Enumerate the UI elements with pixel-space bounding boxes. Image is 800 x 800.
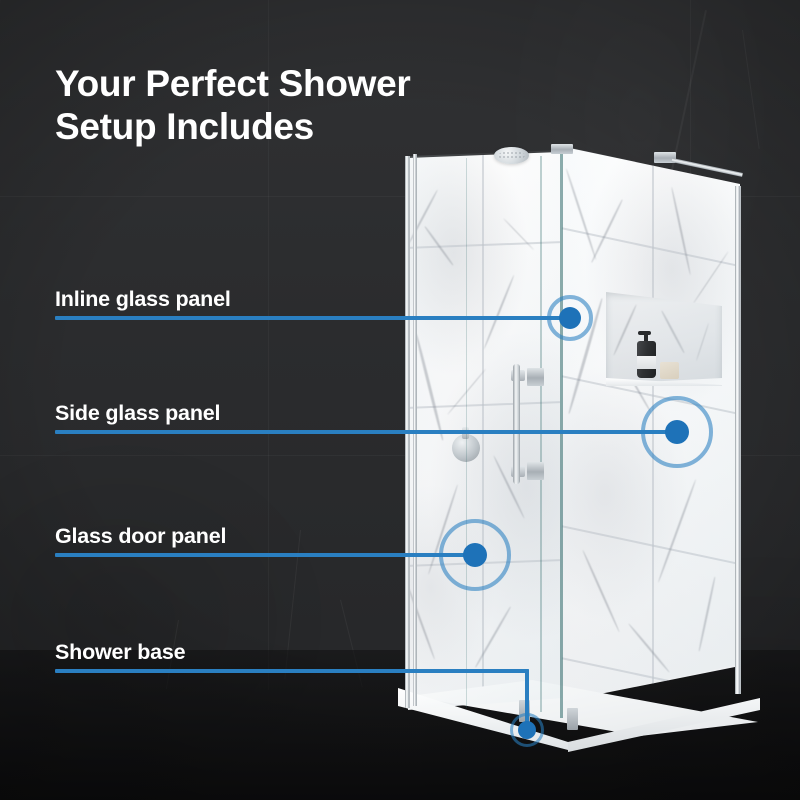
page-title: Your Perfect Shower Setup Includes	[55, 62, 525, 149]
marker-side-glass-panel[interactable]	[641, 396, 713, 468]
glass-door-edge	[540, 156, 542, 712]
marker-inline-glass-panel[interactable]	[547, 295, 593, 341]
chrome-post-right	[735, 186, 741, 694]
callout-label: Shower base	[55, 640, 185, 665]
door-hinge-top	[527, 368, 544, 386]
callout-label: Side glass panel	[55, 401, 220, 426]
marker-shower-base[interactable]	[510, 713, 544, 747]
soap-bar	[660, 362, 679, 379]
callout-label: Inline glass panel	[55, 287, 231, 312]
leader-line-glass-door-panel	[55, 553, 475, 557]
leader-line-side-glass-panel	[55, 430, 677, 434]
marker-dot	[518, 721, 536, 739]
glass-foot-bracket	[567, 708, 578, 730]
callout-label: Glass door panel	[55, 524, 226, 549]
door-hinge-bottom	[527, 462, 544, 480]
infographic-canvas: Your Perfect Shower Setup Includes Inlin…	[0, 0, 800, 800]
rain-showerhead-icon	[494, 147, 529, 164]
marker-dot	[463, 543, 487, 567]
marker-glass-door-panel[interactable]	[439, 519, 511, 591]
marker-dot	[559, 307, 581, 329]
door-handle[interactable]	[513, 364, 520, 484]
corner-top-connector	[551, 144, 573, 154]
leader-line-shower-base	[55, 669, 529, 673]
marker-dot	[665, 420, 689, 444]
soap-dispenser-label	[637, 356, 656, 369]
leader-line-inline-glass-panel	[55, 316, 570, 320]
